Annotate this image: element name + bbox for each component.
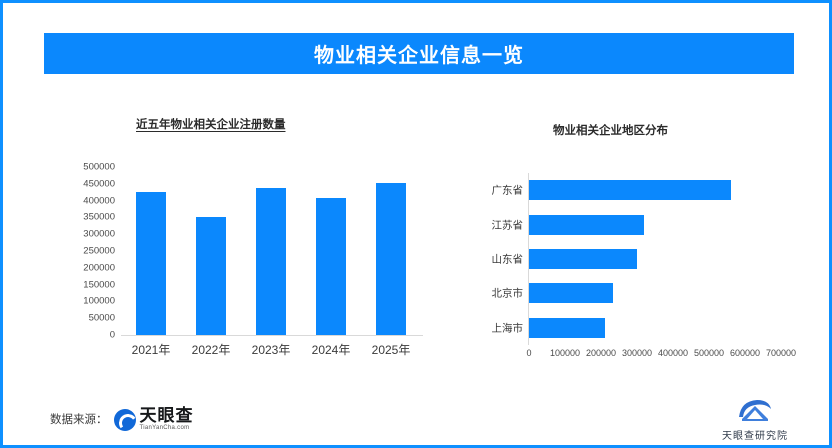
data-source: 数据来源： 天眼查 TianYanCha.com [50, 407, 194, 431]
right-chart-category-labels: 广东省江苏省山东省北京市上海市 [463, 173, 523, 345]
y-tick-label: 150000 [83, 279, 115, 290]
tianyancha-wordmark: 天眼查 TianYanCha.com [140, 407, 194, 431]
category-label: 广东省 [492, 183, 524, 198]
bar-row [529, 180, 781, 200]
x-tick-label: 2022年 [192, 341, 231, 358]
bar-上海市 [529, 318, 605, 338]
research-institute-name: 天眼查研究院 [722, 427, 788, 442]
y-tick-label: 100000 [83, 296, 115, 307]
x-tick-label: 500000 [694, 348, 724, 358]
y-tick-label: 300000 [83, 229, 115, 240]
research-institute-icon [735, 397, 775, 425]
y-tick-label: 200000 [83, 262, 115, 273]
category-label: 北京市 [492, 286, 524, 301]
bar-2021年 [136, 192, 166, 335]
left-chart-plot-area [121, 167, 421, 335]
right-chart-x-axis-labels: 0100000200000300000400000500000600000700… [529, 348, 781, 366]
category-label: 上海市 [492, 320, 524, 335]
bar-row [529, 283, 781, 303]
tianyancha-logo: 天眼查 TianYanCha.com [114, 407, 194, 431]
bar-2025年 [376, 183, 406, 335]
data-source-label: 数据来源： [50, 411, 108, 427]
bar-2023年 [256, 188, 286, 335]
y-tick-label: 450000 [83, 178, 115, 189]
bar-江苏省 [529, 215, 644, 235]
tianyancha-logo-en: TianYanCha.com [140, 425, 194, 431]
research-institute-logo: 天眼查研究院 [695, 393, 815, 445]
tianyancha-eye-icon [114, 409, 136, 431]
y-tick-label: 0 [110, 330, 115, 341]
bar-2022年 [196, 217, 226, 335]
bar-广东省 [529, 180, 731, 200]
registration-count-chart: 近五年物业相关企业注册数量 05000010000015000020000025… [3, 3, 463, 383]
bar-北京市 [529, 283, 613, 303]
x-tick-label: 2023年 [252, 341, 291, 358]
y-tick-label: 50000 [89, 313, 115, 324]
left-chart-baseline [121, 335, 423, 336]
left-chart-title: 近五年物业相关企业注册数量 [136, 116, 286, 132]
category-label: 山东省 [492, 252, 524, 267]
bar-2024年 [316, 198, 346, 335]
tianyancha-logo-cn: 天眼查 [140, 407, 194, 424]
y-tick-label: 500000 [83, 162, 115, 173]
infographic-page: 物业相关企业信息一览 近五年物业相关企业注册数量 050000100000150… [0, 0, 832, 448]
bar-row [529, 249, 781, 269]
bar-山东省 [529, 249, 637, 269]
x-tick-label: 2021年 [132, 341, 171, 358]
bar-row [529, 318, 781, 338]
x-tick-label: 600000 [730, 348, 760, 358]
left-chart-y-axis-labels: 0500001000001500002000002500003000003500… [49, 163, 115, 339]
x-tick-label: 2025年 [372, 341, 411, 358]
right-chart-plot-area [529, 173, 781, 345]
x-tick-label: 400000 [658, 348, 688, 358]
x-tick-label: 100000 [550, 348, 580, 358]
x-tick-label: 200000 [586, 348, 616, 358]
x-tick-label: 300000 [622, 348, 652, 358]
y-tick-label: 350000 [83, 212, 115, 223]
y-tick-label: 250000 [83, 246, 115, 257]
bar-row [529, 215, 781, 235]
x-tick-label: 0 [526, 348, 531, 358]
y-tick-label: 400000 [83, 195, 115, 206]
x-tick-label: 2024年 [312, 341, 351, 358]
x-tick-label: 700000 [766, 348, 796, 358]
right-chart-title: 物业相关企业地区分布 [553, 122, 668, 138]
left-chart-x-axis-labels: 2021年2022年2023年2024年2025年 [121, 341, 421, 363]
category-label: 江苏省 [492, 217, 524, 232]
